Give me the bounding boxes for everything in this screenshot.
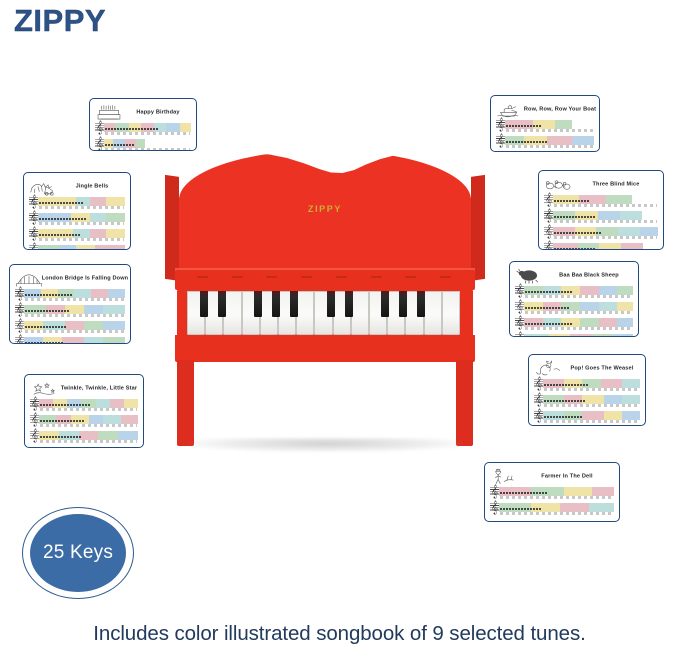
song-card-header: Happy Birthday: [94, 102, 192, 122]
song-card-header: Pop! Goes The Weasel: [533, 358, 641, 378]
song-card-header: Twinkle, Twinkle, Little Star: [29, 378, 139, 398]
song-card-header: Row, Row, Row Your Boat: [495, 99, 595, 119]
song-title: Baa Baa Black Sheep: [519, 272, 639, 278]
piano-brand-logo: ZIPPY: [165, 204, 485, 214]
song-card-header: Farmer In The Dell: [489, 466, 615, 486]
song-card-header: Baa Baa Black Sheep: [514, 265, 634, 285]
piano-front-rail: [175, 335, 475, 362]
song-card: London Bridge Is Falling Down 𝄞 𝄞 𝄞: [9, 264, 131, 344]
song-card-header: Three Blind Mice: [543, 174, 659, 194]
song-title: Jingle Bells: [39, 183, 131, 189]
badge-label: 25 Keys: [43, 542, 113, 564]
piano-wave-top-edge: [179, 152, 471, 198]
black-key[interactable]: [381, 291, 389, 317]
song-staves: 𝄞 𝄞 𝄞: [29, 398, 139, 443]
song-title: Twinkle, Twinkle, Little Star: [37, 385, 144, 391]
song-card: Farmer In The Dell 𝄞 𝄞: [484, 462, 620, 522]
status-badge: 25 Keys: [22, 507, 134, 599]
black-key[interactable]: [327, 291, 335, 317]
song-title: Happy Birthday: [105, 109, 197, 115]
piano-ground-shadow: [189, 438, 463, 452]
song-title: Farmer In The Dell: [493, 473, 620, 479]
white-key[interactable]: [351, 291, 369, 335]
black-key[interactable]: [417, 291, 425, 317]
song-title: Pop! Goes The Weasel: [542, 365, 646, 371]
white-key[interactable]: [424, 291, 442, 335]
song-card: Row, Row, Row Your Boat 𝄞 𝄞: [490, 95, 600, 152]
song-title: Three Blind Mice: [549, 181, 664, 187]
badge-disc: 25 Keys: [30, 514, 126, 592]
song-title: London Bridge Is Falling Down: [21, 275, 131, 281]
piano-leg-left: [177, 360, 194, 446]
piano-keyboard: [187, 291, 463, 335]
song-card: Happy Birthday 𝄞 𝄞: [89, 98, 197, 151]
caption-text: Includes color illustrated songbook of 9…: [0, 622, 679, 646]
song-card-header: Jingle Bells: [28, 176, 126, 196]
piano-leg-right: [456, 360, 473, 446]
toy-piano-product: ZIPPY: [165, 152, 485, 462]
piano-side-panel-right: [469, 175, 485, 281]
black-key[interactable]: [200, 291, 208, 317]
white-key[interactable]: [223, 291, 241, 335]
song-staves: 𝄞 𝄞: [495, 119, 595, 148]
song-card: Three Blind Mice 𝄞 𝄞 𝄞: [538, 170, 664, 250]
song-staves: 𝄞 𝄞 𝄞: [533, 378, 641, 423]
black-key[interactable]: [345, 291, 353, 317]
song-card-header: London Bridge Is Falling Down: [14, 268, 126, 288]
song-staves: 𝄞 𝄞 𝄞 𝄞: [28, 196, 126, 250]
white-key[interactable]: [442, 291, 460, 335]
brand-logo: ZIPPY: [14, 2, 106, 40]
song-card: Baa Baa Black Sheep 𝄞 𝄞 𝄞: [509, 261, 639, 337]
song-staves: 𝄞 𝄞 𝄞 𝄞: [514, 285, 634, 337]
song-staves: 𝄞 𝄞: [489, 486, 615, 515]
black-key[interactable]: [290, 291, 298, 317]
product-image-canvas: ZIPPY Happy Birthday 𝄞: [0, 0, 679, 657]
black-key[interactable]: [399, 291, 407, 317]
song-staves: 𝄞 𝄞 𝄞 𝄞: [543, 194, 659, 250]
piano-note-labels: [197, 276, 451, 281]
song-title: Row, Row, Row Your Boat: [506, 106, 600, 112]
song-card: Jingle Bells 𝄞 𝄞 𝄞: [23, 172, 131, 250]
black-key[interactable]: [254, 291, 262, 317]
song-staves: 𝄞 𝄞: [94, 122, 192, 151]
song-staves: 𝄞 𝄞 𝄞 𝄞: [14, 288, 126, 344]
song-card: Pop! Goes The Weasel 𝄞 𝄞 𝄞: [528, 354, 646, 426]
song-card: Twinkle, Twinkle, Little Star 𝄞 𝄞 𝄞: [24, 374, 144, 448]
black-key[interactable]: [218, 291, 226, 317]
white-key[interactable]: [296, 291, 314, 335]
black-key[interactable]: [272, 291, 280, 317]
